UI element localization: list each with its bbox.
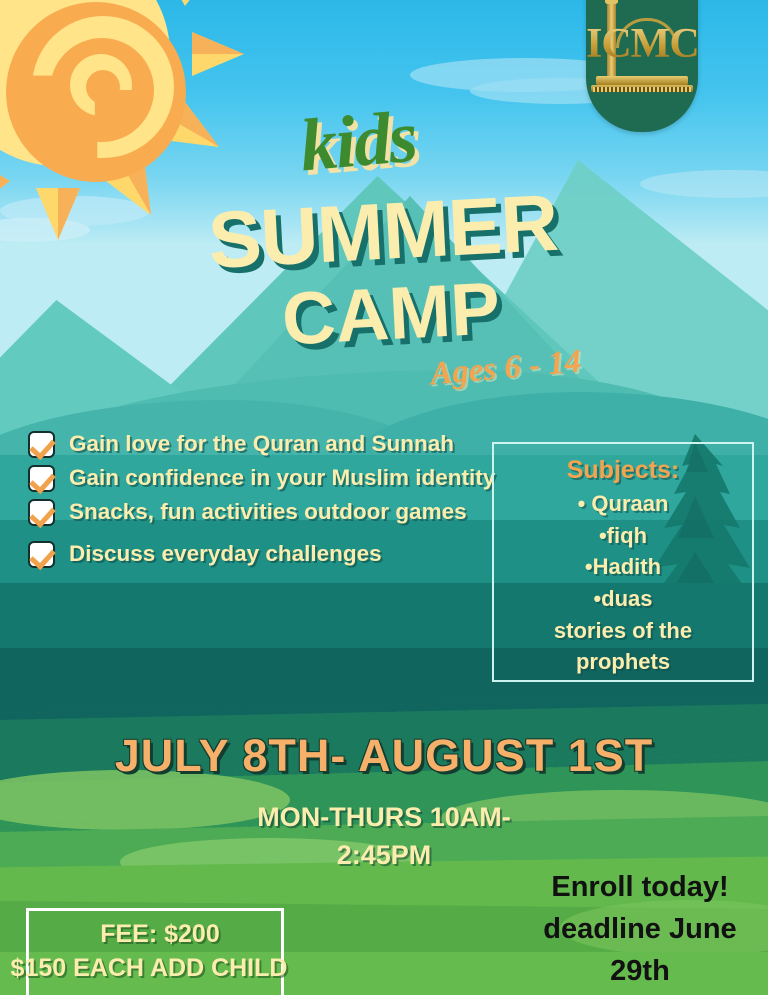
subject-item: •Hadith (494, 551, 752, 583)
enroll-callout[interactable]: Enroll today! deadline June 29th (520, 866, 760, 992)
checklist-item-label: Discuss everyday challenges (69, 538, 498, 570)
checkbox-checked-icon[interactable] (28, 499, 55, 526)
subject-item: • Quraan (494, 488, 752, 520)
fee-section: FEE: $200 $150 EACH ADD CHILD (0, 918, 320, 986)
benefits-checklist: Gain love for the Quran and Sunnah Gain … (28, 428, 498, 572)
checklist-item[interactable]: Discuss everyday challenges (28, 538, 498, 570)
enroll-line-2: deadline June (543, 913, 736, 945)
schedule-label: MON-THURS 10AM- 2:45PM (0, 798, 768, 875)
checkbox-checked-icon[interactable] (28, 431, 55, 458)
enroll-line-3: 29th (610, 955, 670, 987)
checklist-item-label: Gain love for the Quran and Sunnah (69, 428, 498, 460)
subject-item: •fiqh (494, 520, 752, 552)
flyer-canvas: ICMC kids SUMMER CAMP Ages 6 - 14 Gain l… (0, 0, 768, 995)
subject-item: prophets (494, 646, 752, 678)
minaret-dome-icon (605, 0, 618, 4)
checklist-item[interactable]: Snacks, fun activities outdoor games (28, 496, 498, 528)
checklist-item-label: Gain confidence in your Muslim identity (69, 462, 498, 494)
icmc-logo[interactable]: ICMC (586, 0, 698, 132)
subjects-heading: Subjects: (494, 456, 752, 485)
checkbox-checked-icon[interactable] (28, 465, 55, 492)
schedule-line-1: MON-THURS 10AM- (257, 802, 511, 832)
logo-text: ICMC (586, 20, 698, 68)
logo-ribbon-text (593, 87, 691, 92)
checklist-item[interactable]: Gain confidence in your Muslim identity (28, 462, 498, 494)
date-range-label: JULY 8TH- AUGUST 1ST (0, 730, 768, 782)
sun-disc (0, 0, 170, 166)
logo-base (596, 76, 688, 85)
sun-icon (0, 0, 208, 204)
fee-secondary-label: $150 EACH ADD CHILD (0, 952, 320, 986)
subject-item: •duas (494, 583, 752, 615)
enroll-line-1: Enroll today! (551, 871, 728, 903)
checkbox-checked-icon[interactable] (28, 541, 55, 568)
subjects-panel: Subjects: • Quraan •fiqh •Hadith •duas s… (492, 442, 754, 682)
dates-section: JULY 8TH- AUGUST 1ST MON-THURS 10AM- 2:4… (0, 730, 768, 875)
checklist-item-label: Snacks, fun activities outdoor games (69, 496, 498, 528)
subject-item: stories of the (494, 615, 752, 647)
schedule-line-2: 2:45PM (337, 840, 432, 870)
checklist-item[interactable]: Gain love for the Quran and Sunnah (28, 428, 498, 460)
fee-primary-label: FEE: $200 (100, 920, 220, 948)
